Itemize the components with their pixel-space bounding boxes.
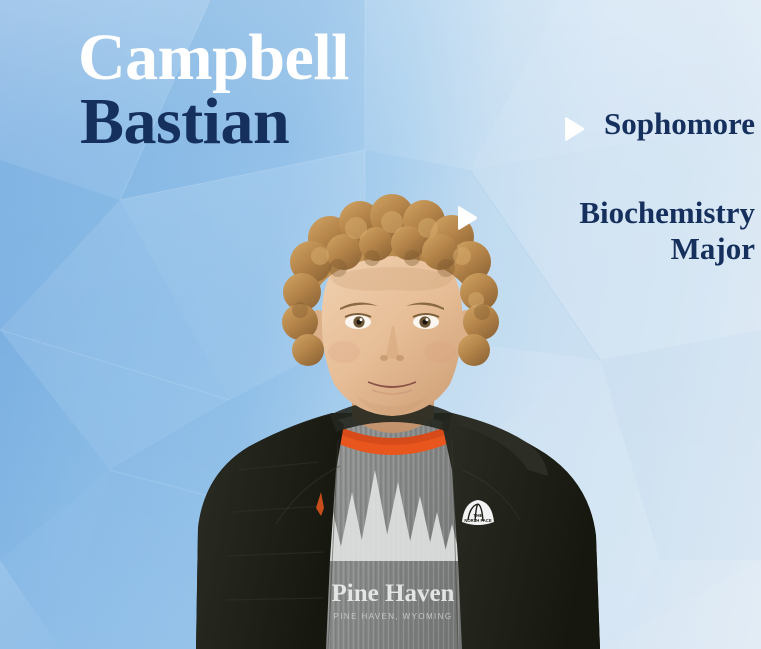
svg-text:PINE HAVEN, WYOMING: PINE HAVEN, WYOMING — [334, 612, 453, 621]
name-last-line: Bastian — [78, 89, 349, 155]
svg-text:NORTH FACE: NORTH FACE — [464, 518, 491, 523]
fact-item-year: Sophomore — [455, 106, 755, 143]
student-profile-card: Pine Haven PINE HAVEN, WYOMING — [0, 0, 761, 649]
fact-label-major: Biochemistry Major — [497, 195, 755, 268]
triangle-right-icon — [455, 205, 479, 231]
fact-item-major: Biochemistry Major — [455, 195, 755, 268]
student-name: Campbell Bastian — [78, 26, 349, 155]
fact-label-year: Sophomore — [604, 106, 755, 143]
jacket-left-panel — [196, 415, 344, 649]
name-first-line: Campbell — [78, 26, 349, 89]
triangle-right-icon — [562, 116, 586, 142]
student-facts-list: Sophomore Biochemistry Major — [455, 106, 755, 268]
svg-text:Pine Haven: Pine Haven — [332, 580, 455, 607]
